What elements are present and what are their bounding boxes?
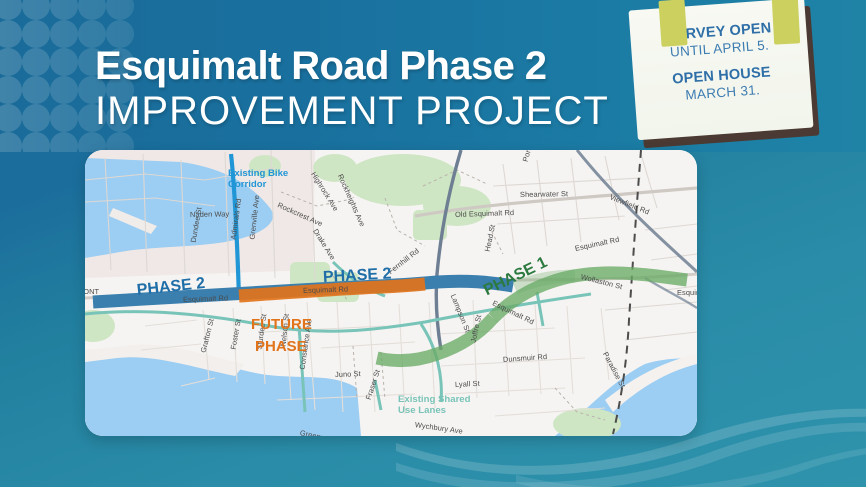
street-label: Esquimalt Rd [183, 293, 228, 304]
poster-canvas: Esquimalt Road Phase 2 IMPROVEMENT PROJE… [0, 0, 866, 487]
project-map[interactable]: MONTNaden WayDundee StAdmirals RdGrenvil… [85, 150, 697, 436]
tape-strip-right-icon [772, 0, 800, 45]
existing-shared-use-lanes-label: Existing SharedUse Lanes [398, 394, 471, 417]
street-label: Juno St [335, 369, 361, 379]
poster-heading: Esquimalt Road Phase 2 IMPROVEMENT PROJE… [95, 46, 635, 134]
page-title-secondary: IMPROVEMENT PROJECT [95, 89, 635, 134]
page-title-primary: Esquimalt Road Phase 2 [95, 46, 635, 87]
tape-strip-left-icon [658, 0, 687, 47]
street-label: Esquimalt Rd [677, 288, 697, 297]
survey-notice-card[interactable]: SURVEY OPEN UNTIL APRIL 5. OPEN HOUSE MA… [633, 4, 823, 146]
route-label-phase-2-east: PHASE 2 [323, 265, 392, 287]
existing-bike-corridor-label: Existing BikeCorridor [228, 168, 288, 191]
route-label-future-phase-line-2: PHASE [255, 338, 307, 355]
street-label: Shearwater St [520, 189, 568, 199]
street-label: MONT [85, 287, 99, 296]
route-label-future-phase-line-1: FUTURE [251, 316, 312, 333]
street-label: Lyall St [455, 379, 480, 389]
